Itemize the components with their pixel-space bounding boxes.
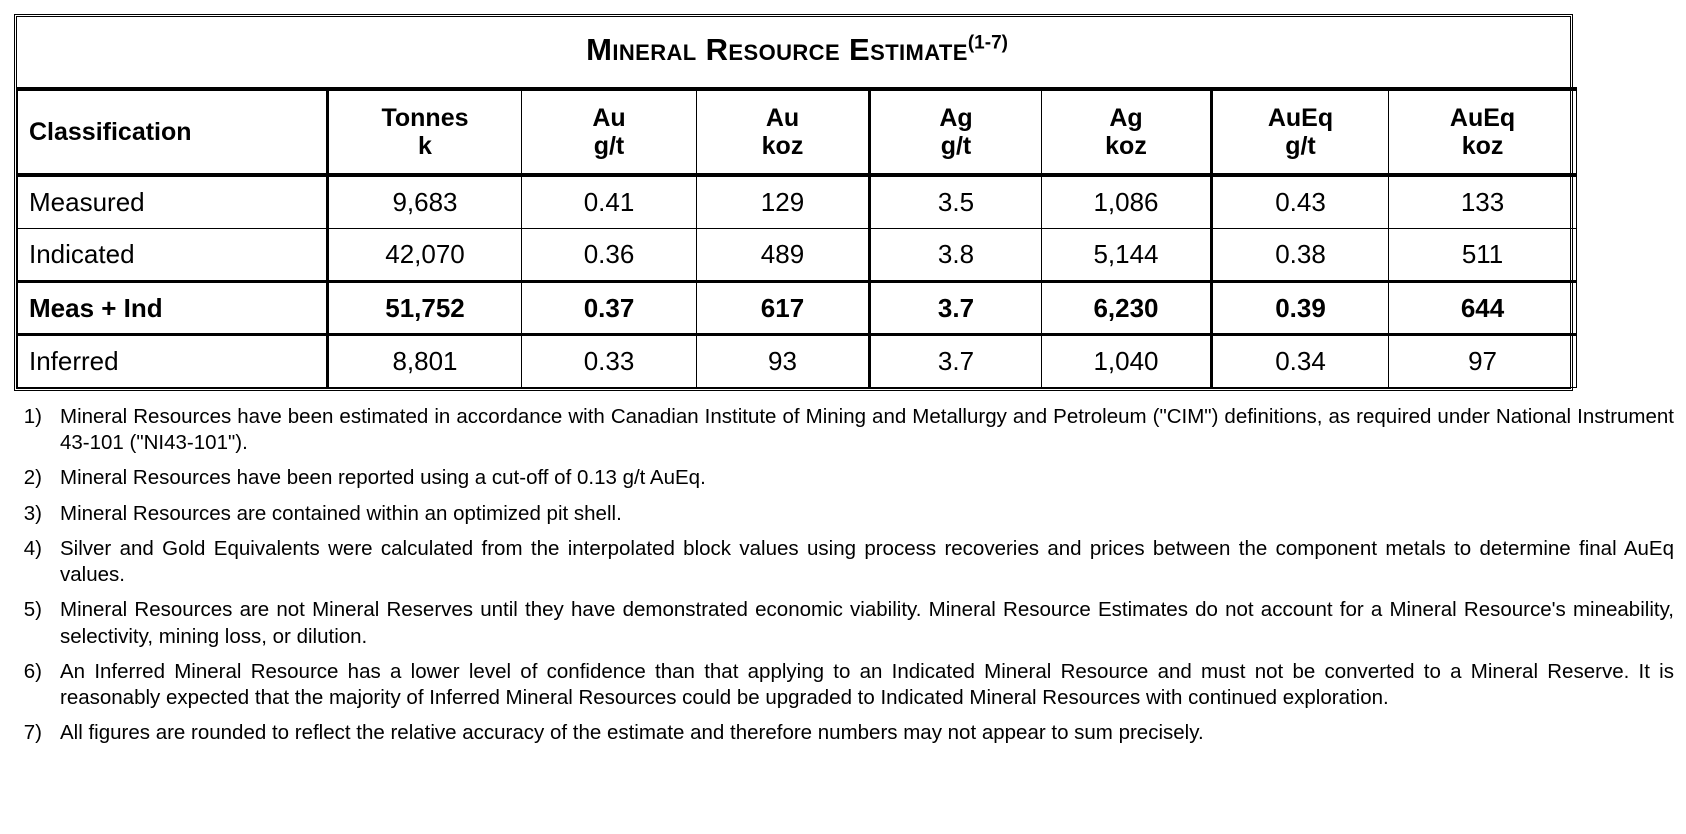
cell-au-koz: 129 — [697, 175, 870, 228]
footnote-number: 1) — [14, 404, 60, 456]
cell-au-koz: 489 — [697, 228, 870, 281]
column-header-classification: Classification — [18, 89, 328, 175]
table-title-cell: Mineral Resource Estimate(1-7) — [18, 17, 1577, 89]
mineral-resource-estimate-page: Mineral Resource Estimate(1-7) Classific… — [0, 0, 1686, 834]
column-header-line1: Ag — [871, 104, 1041, 132]
cell-aueq-koz: 133 — [1389, 175, 1577, 228]
cell-ag-gt: 3.7 — [870, 281, 1042, 334]
column-header-au-koz: Au koz — [697, 89, 870, 175]
cell-tonnes-k: 42,070 — [328, 228, 522, 281]
cell-au-koz: 617 — [697, 281, 870, 334]
table-row: Inferred 8,801 0.33 93 3.7 1,040 0.34 97 — [18, 334, 1577, 387]
column-header-line2: k — [329, 132, 521, 160]
cell-aueq-koz: 97 — [1389, 334, 1577, 387]
table-row: Measured 9,683 0.41 129 3.5 1,086 0.43 1… — [18, 175, 1577, 228]
column-header-line2: g/t — [871, 132, 1041, 160]
footnote-text: All figures are rounded to reflect the r… — [60, 720, 1674, 746]
cell-ag-gt: 3.7 — [870, 334, 1042, 387]
footnote-number: 6) — [14, 659, 60, 711]
page-title: Mineral Resource Estimate(1-7) — [586, 32, 1008, 67]
footnote-text: An Inferred Mineral Resource has a lower… — [60, 659, 1674, 711]
cell-au-gt: 0.37 — [522, 281, 697, 334]
table-title-superscript: (1-7) — [968, 32, 1008, 53]
column-header-line2: g/t — [1213, 132, 1388, 160]
cell-aueq-koz: 511 — [1389, 228, 1577, 281]
mineral-resource-table: Mineral Resource Estimate(1-7) Classific… — [17, 17, 1577, 388]
footnote-number: 5) — [14, 597, 60, 649]
cell-classification: Measured — [18, 175, 328, 228]
cell-ag-gt: 3.5 — [870, 175, 1042, 228]
footnote-item: 5) Mineral Resources are not Mineral Res… — [14, 597, 1674, 649]
column-header-line2: g/t — [522, 132, 696, 160]
table-row: Indicated 42,070 0.36 489 3.8 5,144 0.38… — [18, 228, 1577, 281]
footnote-number: 7) — [14, 720, 60, 746]
cell-classification: Meas + Ind — [18, 281, 328, 334]
cell-tonnes-k: 8,801 — [328, 334, 522, 387]
cell-aueq-gt: 0.38 — [1212, 228, 1389, 281]
cell-ag-koz: 1,086 — [1042, 175, 1212, 228]
column-header-line1: AuEq — [1389, 104, 1576, 132]
cell-ag-koz: 6,230 — [1042, 281, 1212, 334]
cell-classification: Inferred — [18, 334, 328, 387]
cell-aueq-koz: 644 — [1389, 281, 1577, 334]
table-header-row: Classification Tonnes k Au g/t Au koz — [18, 89, 1577, 175]
footnote-number: 3) — [14, 501, 60, 527]
footnotes-list: 1) Mineral Resources have been estimated… — [14, 404, 1674, 756]
cell-tonnes-k: 51,752 — [328, 281, 522, 334]
footnote-item: 3) Mineral Resources are contained withi… — [14, 501, 1674, 527]
column-header-au-gt: Au g/t — [522, 89, 697, 175]
footnote-text: Mineral Resources are contained within a… — [60, 501, 1674, 527]
column-header-line2: koz — [697, 132, 868, 160]
cell-au-koz: 93 — [697, 334, 870, 387]
footnote-item: 1) Mineral Resources have been estimated… — [14, 404, 1674, 456]
column-header-line2: koz — [1042, 132, 1210, 160]
table-row-total: Meas + Ind 51,752 0.37 617 3.7 6,230 0.3… — [18, 281, 1577, 334]
cell-tonnes-k: 9,683 — [328, 175, 522, 228]
footnote-text: Mineral Resources are not Mineral Reserv… — [60, 597, 1674, 649]
table-title-text: Mineral Resource Estimate — [586, 32, 968, 67]
column-header-aueq-koz: AuEq koz — [1389, 89, 1577, 175]
column-header-ag-koz: Ag koz — [1042, 89, 1212, 175]
cell-aueq-gt: 0.43 — [1212, 175, 1389, 228]
column-header-line1: AuEq — [1213, 104, 1388, 132]
column-header-line1: Au — [697, 104, 868, 132]
cell-aueq-gt: 0.34 — [1212, 334, 1389, 387]
column-header-ag-gt: Ag g/t — [870, 89, 1042, 175]
footnote-text: Mineral Resources have been reported usi… — [60, 465, 1674, 491]
column-header-line1: Tonnes — [329, 104, 521, 132]
table-title-row: Mineral Resource Estimate(1-7) — [18, 17, 1577, 89]
mineral-resource-table-container: Mineral Resource Estimate(1-7) Classific… — [14, 14, 1573, 391]
cell-classification: Indicated — [18, 228, 328, 281]
cell-au-gt: 0.36 — [522, 228, 697, 281]
cell-ag-koz: 5,144 — [1042, 228, 1212, 281]
cell-aueq-gt: 0.39 — [1212, 281, 1389, 334]
cell-au-gt: 0.33 — [522, 334, 697, 387]
footnote-text: Mineral Resources have been estimated in… — [60, 404, 1674, 456]
footnote-item: 7) All figures are rounded to reflect th… — [14, 720, 1674, 746]
column-header-tonnes: Tonnes k — [328, 89, 522, 175]
cell-au-gt: 0.41 — [522, 175, 697, 228]
cell-ag-koz: 1,040 — [1042, 334, 1212, 387]
footnote-item: 4) Silver and Gold Equivalents were calc… — [14, 536, 1674, 588]
footnote-number: 2) — [14, 465, 60, 491]
column-header-aueq-gt: AuEq g/t — [1212, 89, 1389, 175]
footnote-number: 4) — [14, 536, 60, 588]
column-header-line2: koz — [1389, 132, 1576, 160]
cell-ag-gt: 3.8 — [870, 228, 1042, 281]
footnote-text: Silver and Gold Equivalents were calcula… — [60, 536, 1674, 588]
column-header-line1: Classification — [29, 118, 326, 146]
column-header-line1: Au — [522, 104, 696, 132]
column-header-line1: Ag — [1042, 104, 1210, 132]
footnote-item: 6) An Inferred Mineral Resource has a lo… — [14, 659, 1674, 711]
footnote-item: 2) Mineral Resources have been reported … — [14, 465, 1674, 491]
